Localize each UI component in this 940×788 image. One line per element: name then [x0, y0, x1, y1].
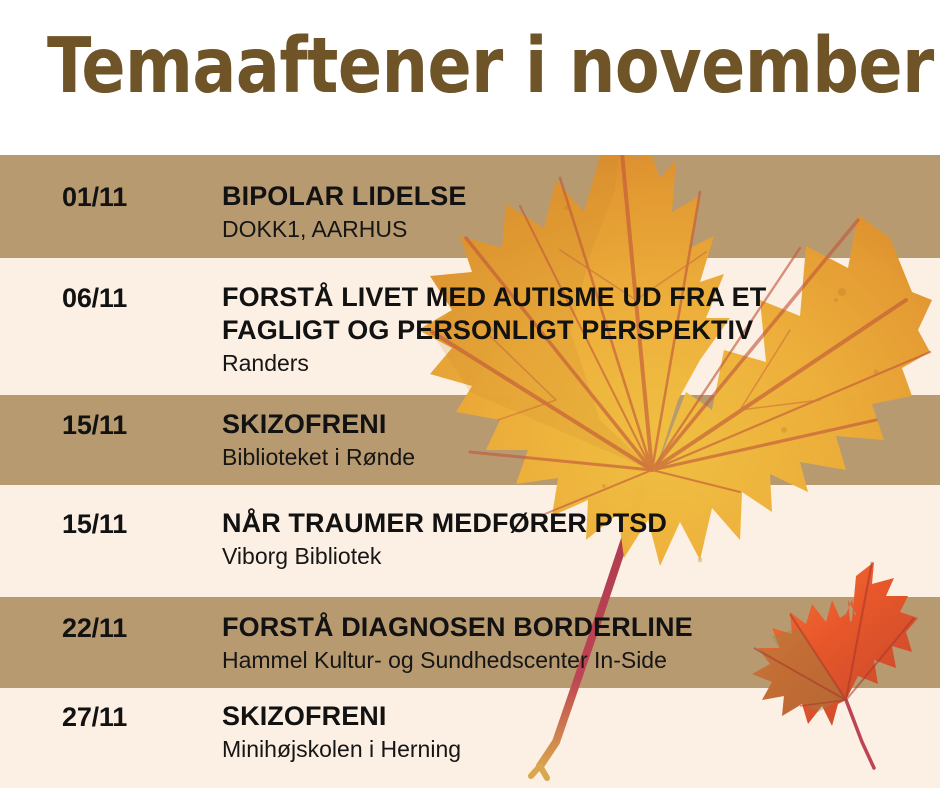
event-title-line: FAGLIGT OG PERSONLIGT PERSPEKTIV — [222, 314, 922, 347]
event-venue: Biblioteket i Rønde — [222, 443, 922, 472]
event-body: SKIZOFRENI Biblioteket i Rønde — [222, 408, 922, 472]
event-title-line: FORSTÅ LIVET MED AUTISME UD FRA ET — [222, 281, 922, 314]
event-date: 22/11 — [62, 613, 127, 643]
event-body: FORSTÅ DIAGNOSEN BORDERLINE Hammel Kultu… — [222, 611, 922, 675]
poster-canvas: Temaaftener i november 01/11 BIPOLAR LID… — [0, 0, 940, 788]
event-body: SKIZOFRENI Minihøjskolen i Herning — [222, 700, 922, 764]
event-date: 01/11 — [62, 182, 127, 212]
event-body: FORSTÅ LIVET MED AUTISME UD FRA ET FAGLI… — [222, 281, 922, 378]
event-title-line: NÅR TRAUMER MEDFØRER PTSD — [222, 507, 922, 540]
event-venue: Hammel Kultur- og Sundhedscenter In-Side — [222, 646, 922, 675]
event-date: 27/11 — [62, 702, 127, 732]
event-body: BIPOLAR LIDELSE DOKK1, AARHUS — [222, 180, 922, 244]
event-title-line: FORSTÅ DIAGNOSEN BORDERLINE — [222, 611, 922, 644]
event-body: NÅR TRAUMER MEDFØRER PTSD Viborg Bibliot… — [222, 507, 922, 571]
event-date: 15/11 — [62, 509, 127, 539]
event-venue: Viborg Bibliotek — [222, 542, 922, 571]
event-date: 15/11 — [62, 410, 127, 440]
event-title-line: SKIZOFRENI — [222, 700, 922, 733]
event-date: 06/11 — [62, 283, 127, 313]
event-venue: Randers — [222, 349, 922, 378]
event-venue: DOKK1, AARHUS — [222, 215, 922, 244]
event-title-line: SKIZOFRENI — [222, 408, 922, 441]
event-title-line: BIPOLAR LIDELSE — [222, 180, 922, 213]
page-title: Temaaftener i november — [47, 24, 934, 110]
event-venue: Minihøjskolen i Herning — [222, 735, 922, 764]
